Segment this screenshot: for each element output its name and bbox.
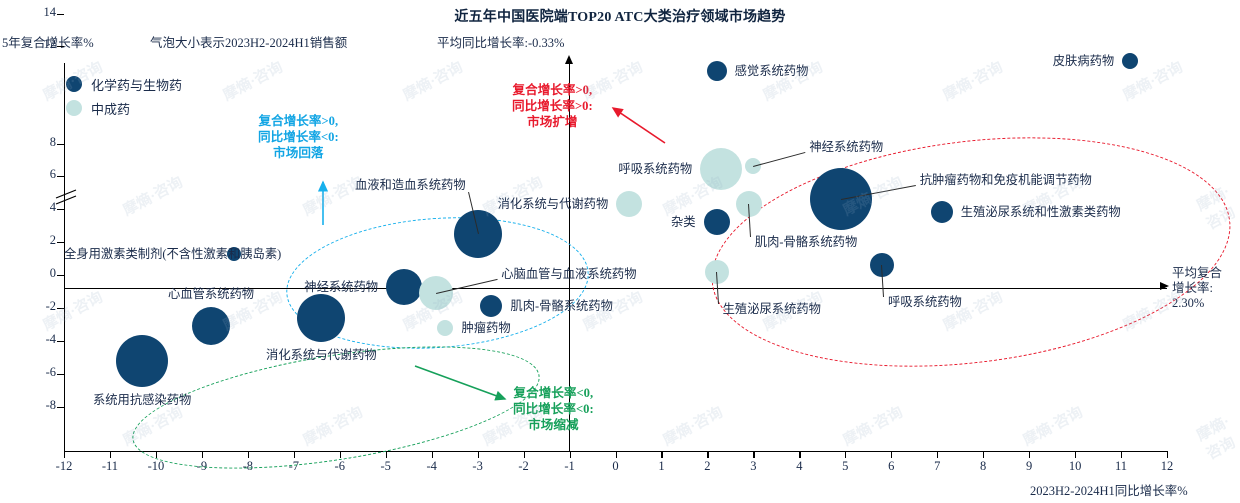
avg-cagr-label: 平均复合 增长率: 2.30% xyxy=(1172,266,1222,311)
annotation-arrows xyxy=(0,0,1240,503)
chart-page: 近五年中国医院端TOP20 ATC大类治疗领域市场趋势 5年复合增长率% 气泡大… xyxy=(0,0,1240,503)
avg-cagr-line1: 平均复合 xyxy=(1172,266,1222,281)
x-axis-title: 2023H2-2024H1同比增长率% xyxy=(1030,480,1188,499)
avg-cagr-line2: 增长率: xyxy=(1172,281,1222,296)
avg-cagr-value: 2.30% xyxy=(1172,296,1222,311)
